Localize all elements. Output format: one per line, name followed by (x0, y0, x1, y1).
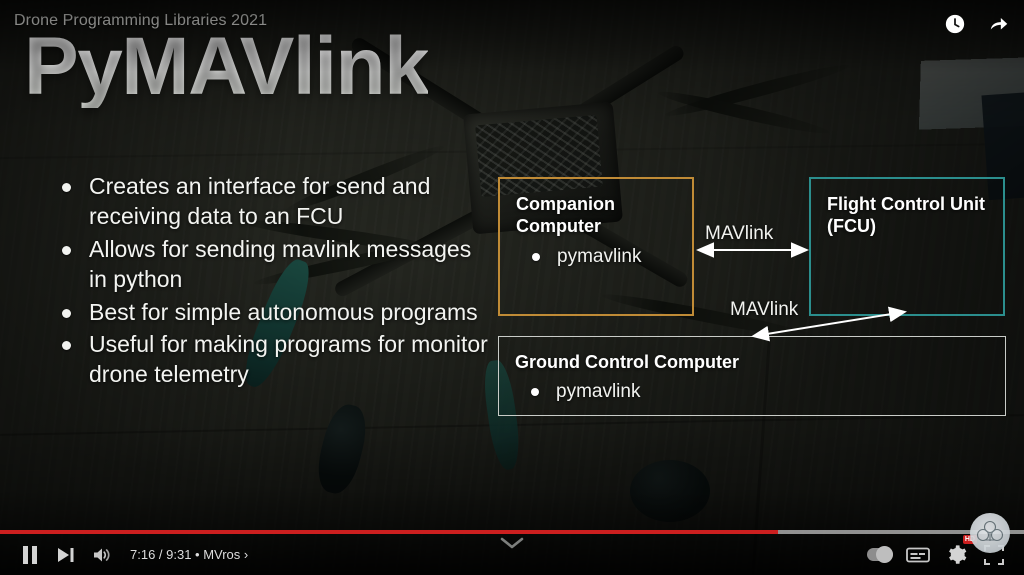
watch-later-icon[interactable] (940, 9, 970, 39)
box-list-item: pymavlink (515, 381, 989, 403)
box-title: Flight Control Unit (FCU) (827, 193, 987, 238)
diagram-box-companion-computer: Companion Computer pymavlink (498, 177, 694, 316)
arrow-label-mavlink-1: MAVlink (705, 223, 773, 245)
slide-content: Drone Programming Libraries 2021 PyMAVli… (0, 0, 1024, 575)
architecture-diagram: Companion Computer pymavlink Flight Cont… (0, 0, 1024, 575)
autoplay-toggle[interactable] (862, 537, 898, 573)
arrow-label-mavlink-2: MAVlink (730, 299, 798, 321)
bullet-dot-icon (531, 388, 539, 396)
box-title: Ground Control Computer (515, 351, 989, 373)
volume-button[interactable] (84, 537, 120, 573)
settings-button[interactable]: HD (938, 537, 974, 573)
play-triangle-icon (882, 552, 888, 558)
captions-button[interactable] (900, 537, 936, 573)
gear-icon (946, 544, 967, 565)
share-icon[interactable] (984, 9, 1014, 39)
watermark-logo-icon (975, 518, 1005, 548)
bullet-dot-icon (532, 253, 540, 261)
diagram-box-flight-control-unit: Flight Control Unit (FCU) (809, 177, 1005, 316)
player-controls[interactable]: 7:16 / 9:31 • MVros › HD (0, 534, 1024, 575)
box-item-label: pymavlink (556, 381, 640, 403)
top-action-bar[interactable] (940, 9, 1014, 39)
box-item-label: pymavlink (557, 246, 641, 268)
box-title: Companion Computer (516, 193, 676, 238)
video-player[interactable]: Drone Programming Libraries 2021 PyMAVli… (0, 0, 1024, 575)
time-and-channel-label: 7:16 / 9:31 • MVros › (130, 547, 248, 562)
pause-button[interactable] (12, 537, 48, 573)
channel-watermark[interactable] (970, 513, 1010, 553)
diagram-box-ground-control-computer: Ground Control Computer pymavlink (498, 336, 1006, 416)
next-video-button[interactable] (48, 537, 84, 573)
autoplay-switch-icon[interactable] (867, 548, 893, 561)
box-list-item: pymavlink (516, 246, 676, 268)
